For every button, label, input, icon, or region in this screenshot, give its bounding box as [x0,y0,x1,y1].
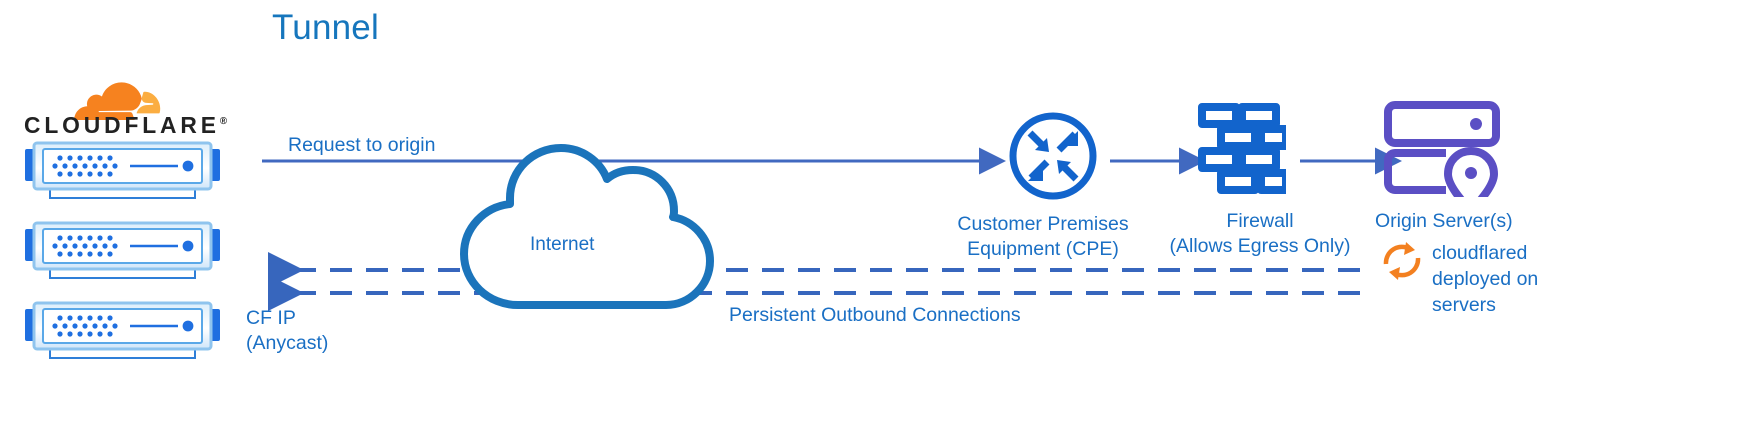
firewall-icon [1196,101,1286,197]
label-firewall: Firewall (Allows Egress Only) [1159,209,1361,259]
cloud-icon [464,148,710,305]
origin-server-icon [1384,101,1504,197]
sync-arrows-icon [1386,242,1418,280]
label-origin-server: Origin Server(s) [1375,209,1513,234]
label-cpe-line1: Customer Premises [947,212,1139,237]
label-cf-ip-line2: (Anycast) [246,331,396,356]
label-cpe: Customer Premises Equipment (CPE) [947,212,1139,262]
label-firewall-line1: Firewall [1159,209,1361,234]
brick-wall-icon [1202,107,1286,190]
label-cloudflared-line3: servers [1432,292,1582,318]
label-cloudflared: cloudflared deployed on servers [1432,240,1582,318]
label-firewall-line2: (Allows Egress Only) [1159,234,1361,259]
label-cf-ip-line1: CF IP [246,306,396,331]
label-request-to-origin: Request to origin [288,133,435,158]
internet-cloud [440,140,730,320]
tunnel-diagram: Tunnel CLOUDFLARE® [0,0,1754,422]
label-internet: Internet [530,232,594,257]
cpe-icon [1007,110,1099,202]
server-location-pin-icon [1388,105,1496,197]
label-persistent-outbound-connections: Persistent Outbound Connections [729,303,1021,328]
cloudflared-icon [1379,238,1425,284]
label-cf-ip: CF IP (Anycast) [246,306,396,356]
label-cpe-line2: Equipment (CPE) [947,237,1139,262]
label-cloudflared-line1: cloudflared [1432,240,1582,266]
label-cloudflared-line2: deployed on [1432,266,1582,292]
